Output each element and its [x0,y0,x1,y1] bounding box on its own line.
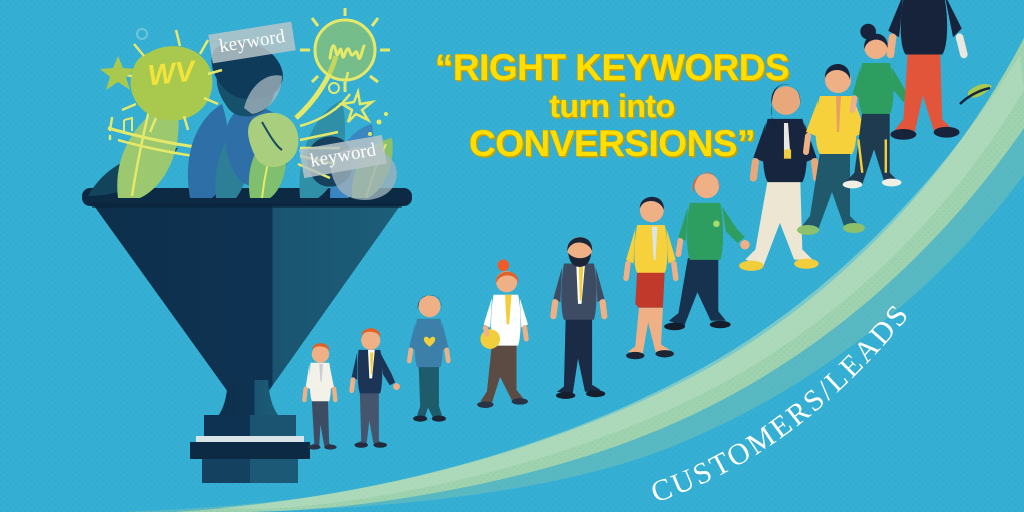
funnel-base-band [190,442,310,459]
dot-doodle-3 [368,132,372,136]
dot-doodle-1 [377,120,382,125]
funnel-base-foot-light [250,459,298,483]
headline: “RIGHT KEYWORDS turn into CONVERSIONS” [392,48,832,163]
headline-line-1: “RIGHT KEYWORDS [392,48,832,88]
funnel-neck-body-light [250,415,296,437]
dot-doodle-2 [384,112,388,116]
poster-canvas: CUSTOMERS/LEADS “RIGHT KEYWORDS turn int… [0,0,1024,512]
headline-line-3: CONVERSIONS” [392,124,832,164]
wv-doodle-text: WV [146,56,196,94]
funnel-rim-shadow [92,203,402,208]
funnel-stripe [196,436,304,443]
headline-line-2: turn into [392,89,832,123]
